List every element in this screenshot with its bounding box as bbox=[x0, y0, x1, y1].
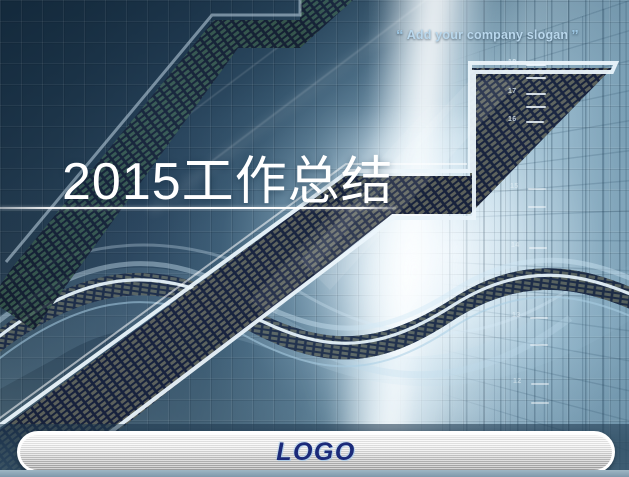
quote-open-icon: “ bbox=[393, 27, 407, 44]
title-underline-rule bbox=[0, 207, 396, 209]
slide-title: 2015工作总结 bbox=[62, 139, 394, 214]
slide-footer-strip bbox=[0, 470, 629, 477]
slogan-text: Add your company slogan bbox=[407, 28, 569, 42]
logo-label: LOGO bbox=[276, 438, 356, 467]
presentation-slide: 18171615141312 “Add your company slogan”… bbox=[0, 0, 629, 477]
quote-close-icon: ” bbox=[568, 27, 582, 44]
company-slogan: “Add your company slogan” bbox=[393, 27, 582, 44]
logo-bar[interactable]: LOGO bbox=[17, 431, 615, 473]
